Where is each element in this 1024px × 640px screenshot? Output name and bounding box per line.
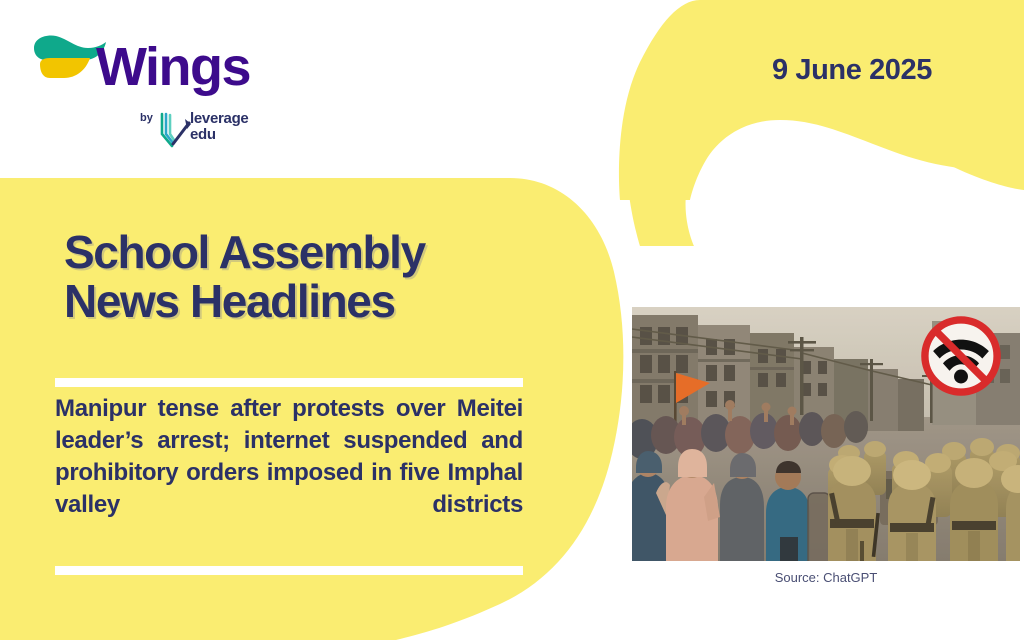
- brand-logo[interactable]: Wings by leverage edu: [22, 18, 252, 138]
- publication-date: 9 June 2025: [772, 54, 932, 87]
- news-photo: POLICE: [632, 307, 1020, 561]
- page-title: School Assembly News Headlines: [64, 228, 534, 326]
- photo-source-caption: Source: ChatGPT: [632, 570, 1020, 585]
- divider-top: [55, 378, 523, 387]
- news-headline-text: Manipur tense after protests over Meitei…: [55, 393, 523, 553]
- top-right-yellow-blob: [627, 0, 1024, 246]
- leverage-edu-wordmark: leverage edu: [190, 111, 248, 143]
- leverage-edu-checkmark-icon: [158, 110, 192, 150]
- logo-by-label: by: [140, 112, 153, 124]
- divider-bottom: [55, 566, 523, 575]
- top-right-yellow-curve: [619, 0, 1024, 200]
- leverage-edu-line1: leverage: [190, 111, 248, 127]
- poster-canvas: Wings by leverage edu 9 June 2025 School…: [0, 0, 1024, 640]
- leverage-edu-line2: edu: [190, 127, 248, 143]
- page-title-line1: School Assembly: [64, 228, 534, 277]
- no-wifi-icon: [920, 315, 1002, 397]
- page-title-line2: News Headlines: [64, 277, 534, 326]
- wings-wordmark: Wings: [96, 40, 250, 94]
